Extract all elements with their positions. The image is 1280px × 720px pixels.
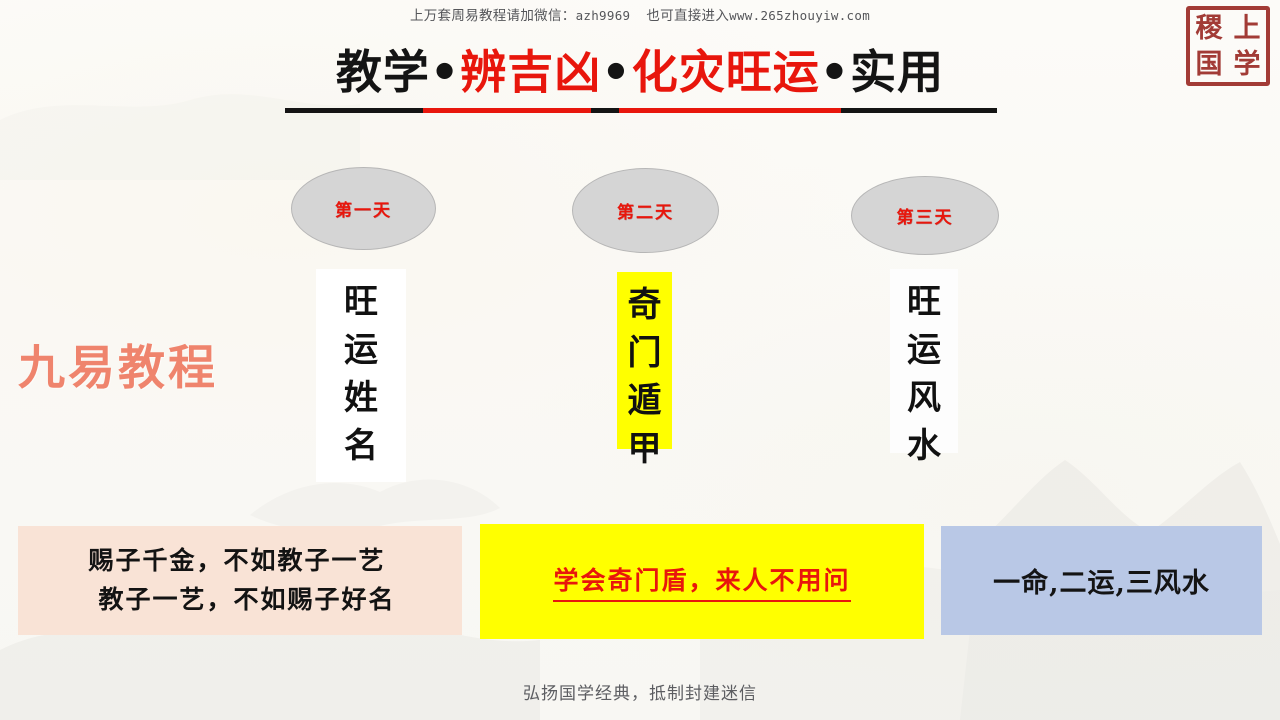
footer-disclaimer: 弘扬国学经典，抵制封建迷信 bbox=[0, 679, 1280, 704]
quote-panel-naming: 赐子千金，不如教子一艺 教子一艺，不如赐子好名 bbox=[18, 526, 462, 635]
day-bubble-2[interactable]: 第二天 bbox=[572, 168, 719, 253]
course-1-char-4: 名 bbox=[344, 422, 378, 470]
course-3-char-4: 水 bbox=[907, 422, 941, 470]
course-column-day-3: 旺 运 风 水 bbox=[890, 269, 958, 453]
headline-part-practical: 实用 bbox=[850, 45, 944, 99]
day-bubble-3-label: 第三天 bbox=[897, 203, 954, 228]
seal-char-2: 上 bbox=[1228, 10, 1266, 46]
headline-part-teaching: 教学 bbox=[336, 45, 430, 99]
course-2-char-4: 甲 bbox=[628, 425, 662, 473]
course-2-char-2: 门 bbox=[628, 329, 662, 377]
slide-canvas: 上万套周易教程请加微信：azh9969也可直接进入www.265zhouyiw.… bbox=[0, 0, 1280, 720]
day-bubble-1-label: 第一天 bbox=[335, 196, 392, 221]
brand-watermark: 九易教程 bbox=[18, 329, 218, 398]
headline-bullet-2: • bbox=[601, 45, 631, 99]
course-3-char-3: 风 bbox=[907, 374, 941, 422]
course-2-char-1: 奇 bbox=[628, 281, 662, 329]
course-3-char-2: 运 bbox=[907, 326, 941, 374]
course-2-char-3: 遁 bbox=[628, 377, 662, 425]
promo-banner-website: www.265zhouyiw.com bbox=[729, 8, 870, 23]
quote-panel-qimen: 学会奇门盾，来人不用问 bbox=[480, 524, 924, 639]
slide-headline: 教学•辨吉凶•化灾旺运•实用 bbox=[0, 48, 1280, 96]
course-column-day-2: 奇 门 遁 甲 bbox=[617, 272, 672, 449]
headline-underline bbox=[285, 108, 997, 113]
seal-char-1: 稷 bbox=[1190, 10, 1228, 46]
day-bubble-2-label: 第二天 bbox=[617, 198, 674, 223]
headline-underline-segment-red-1 bbox=[423, 108, 591, 113]
course-1-char-3: 姓 bbox=[344, 374, 378, 422]
quote-panel-naming-line-2: 教子一艺，不如赐子好名 bbox=[98, 581, 395, 620]
headline-underline-segment-black-3 bbox=[841, 108, 997, 113]
course-1-char-1: 旺 bbox=[344, 278, 378, 326]
headline-part-luck: 化灾旺运 bbox=[632, 45, 820, 99]
quote-panel-fengshui-line-1: 一命,二运,三风水 bbox=[993, 561, 1210, 600]
headline-underline-segment-black-2 bbox=[591, 108, 619, 113]
headline-underline-segment-black-1 bbox=[285, 108, 423, 113]
promo-banner: 上万套周易教程请加微信：azh9969也可直接进入www.265zhouyiw.… bbox=[0, 4, 1280, 24]
headline-underline-segment-red-2 bbox=[619, 108, 841, 113]
headline-part-fortune: 辨吉凶 bbox=[460, 45, 601, 99]
quote-panel-naming-line-1: 赐子千金，不如教子一艺 bbox=[88, 542, 385, 581]
headline-bullet-3: • bbox=[820, 45, 850, 99]
quote-panel-qimen-line-1: 学会奇门盾，来人不用问 bbox=[553, 561, 850, 602]
headline-bullet-1: • bbox=[430, 45, 460, 99]
course-1-char-2: 运 bbox=[344, 326, 378, 374]
day-bubble-3[interactable]: 第三天 bbox=[851, 176, 999, 255]
quote-panel-fengshui: 一命,二运,三风水 bbox=[941, 526, 1262, 635]
promo-banner-wechat-id: azh9969 bbox=[576, 8, 631, 23]
day-bubble-1[interactable]: 第一天 bbox=[291, 167, 436, 250]
course-3-char-1: 旺 bbox=[907, 278, 941, 326]
promo-banner-lead: 上万套周易教程请加微信： bbox=[410, 8, 576, 24]
course-column-day-1: 旺 运 姓 名 bbox=[316, 269, 406, 482]
promo-banner-alt-lead: 也可直接进入 bbox=[646, 8, 729, 24]
